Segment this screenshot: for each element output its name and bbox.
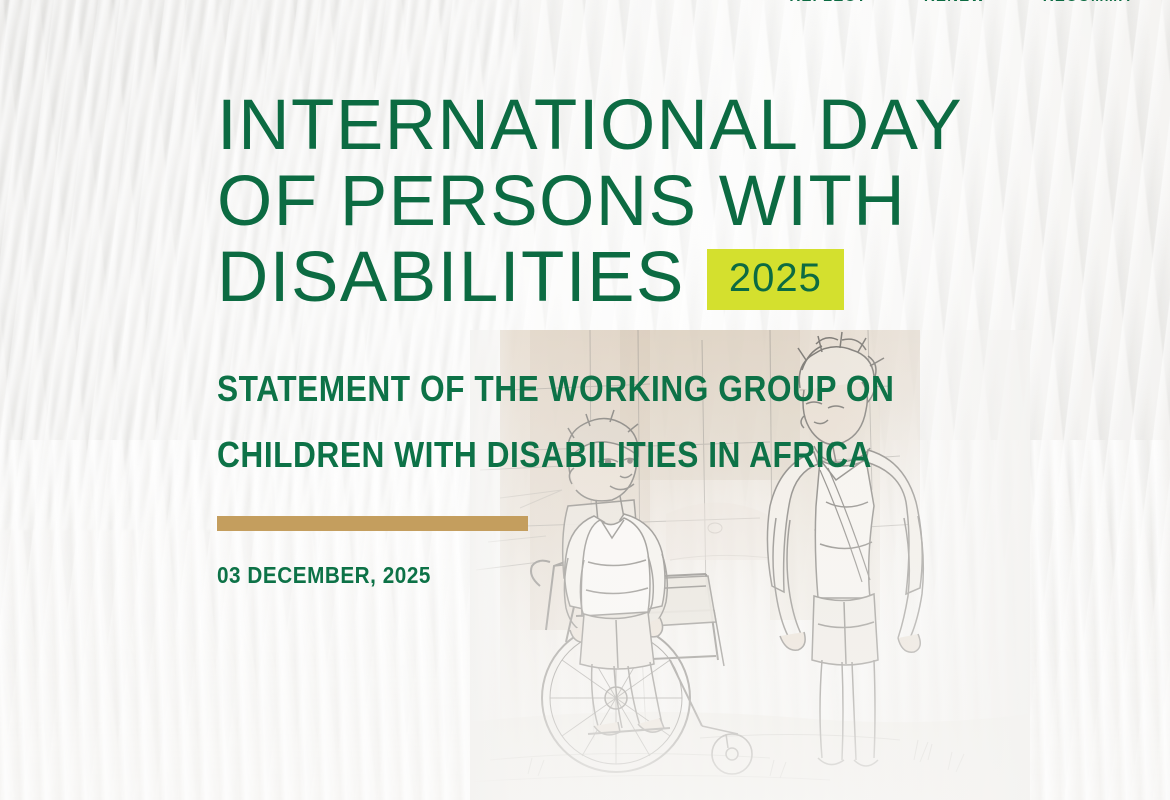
- top-navigation: REFLECT RENEW RECOMMIT: [789, 0, 1134, 5]
- subtitle-line-1: STATEMENT OF THE WORKING GROUP ON: [217, 356, 1009, 422]
- page-title: INTERNATIONAL DAY OF PERSONS WITH DISABI…: [217, 88, 1117, 316]
- gold-divider: [217, 516, 528, 531]
- title-line-1: INTERNATIONAL DAY: [217, 88, 1117, 164]
- subtitle-line-2: CHILDREN WITH DISABILITIES IN AFRICA: [217, 422, 1009, 488]
- event-date: 03 DECEMBER, 2025: [217, 562, 1027, 589]
- nav-item-reflect[interactable]: REFLECT: [789, 0, 867, 5]
- page-subtitle: STATEMENT OF THE WORKING GROUP ON CHILDR…: [217, 356, 1009, 488]
- poster-canvas: REFLECT RENEW RECOMMIT: [0, 0, 1170, 800]
- nav-item-recommit[interactable]: RECOMMIT: [1043, 0, 1134, 5]
- hero-content: INTERNATIONAL DAY OF PERSONS WITH DISABI…: [217, 88, 1117, 589]
- title-line-3: DISABILITIES: [217, 240, 685, 316]
- nav-item-renew[interactable]: RENEW: [924, 0, 986, 5]
- title-line-2: OF PERSONS WITH: [217, 164, 1117, 240]
- year-badge: 2025: [707, 249, 844, 310]
- title-line-3-row: DISABILITIES 2025: [217, 240, 1117, 316]
